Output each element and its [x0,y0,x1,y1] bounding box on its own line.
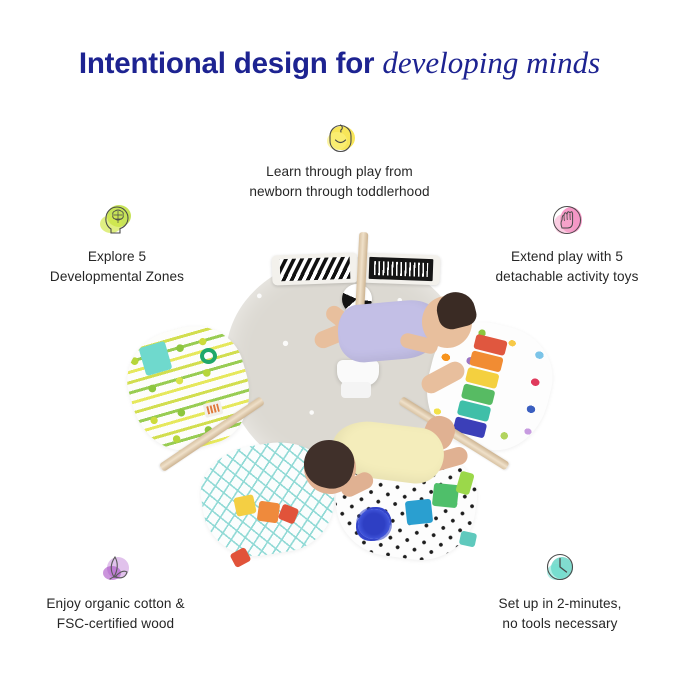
feature-caption-line2: Developmental Zones [22,267,212,287]
leaf-icon [18,544,213,590]
high-contrast-chevron-panel [272,253,359,286]
feature-caption-line2: no tools necessary [460,614,660,634]
feature-organic-materials: Enjoy organic cotton & FSC-certified woo… [18,544,213,633]
page-title: Intentional design for developing minds [0,45,679,81]
feature-caption-line1: Explore 5 [22,247,212,267]
feature-caption-line2: FSC-certified wood [18,614,213,634]
page-title-regular: Intentional design for [79,47,383,80]
teal-tag-toy [459,530,478,547]
feature-caption-line2: newborn through toddlerhood [220,182,460,202]
feature-caption-line1: Extend play with 5 [467,247,667,267]
page-title-italic: developing minds [382,45,600,80]
feature-caption-line1: Learn through play from [220,162,460,182]
feature-caption: Enjoy organic cotton & FSC-certified woo… [18,594,213,633]
arch-hub-lower [341,382,371,398]
feature-quick-setup: Set up in 2-minutes, no tools necessary [460,544,660,633]
feature-caption: Set up in 2-minutes, no tools necessary [460,594,660,633]
baby-top [304,284,474,380]
feature-caption: Learn through play from newborn through … [220,162,460,201]
feature-caption: Extend play with 5 detachable activity t… [467,247,667,286]
orange-block-toy [257,501,281,524]
feature-learn-through-play: Learn through play from newborn through … [220,112,460,201]
high-contrast-card-panel [362,253,441,286]
clock-icon [460,544,660,590]
feature-caption-line1: Set up in 2-minutes, [460,594,660,614]
hand-icon [467,197,667,243]
baby-face-icon [220,112,460,158]
feature-caption-line1: Enjoy organic cotton & [18,594,213,614]
feature-caption-line2: detachable activity toys [467,267,667,287]
feature-caption: Explore 5 Developmental Zones [22,247,212,286]
green-teether-ring [200,348,217,364]
infographic-page: Intentional design for developing minds [0,0,679,679]
feature-detachable-toys: Extend play with 5 detachable activity t… [467,197,667,286]
head-brain-icon [22,197,212,243]
feature-developmental-zones: Explore 5 Developmental Zones [22,197,212,286]
yellow-block-toy [233,494,257,517]
baby-bottom [282,414,466,526]
